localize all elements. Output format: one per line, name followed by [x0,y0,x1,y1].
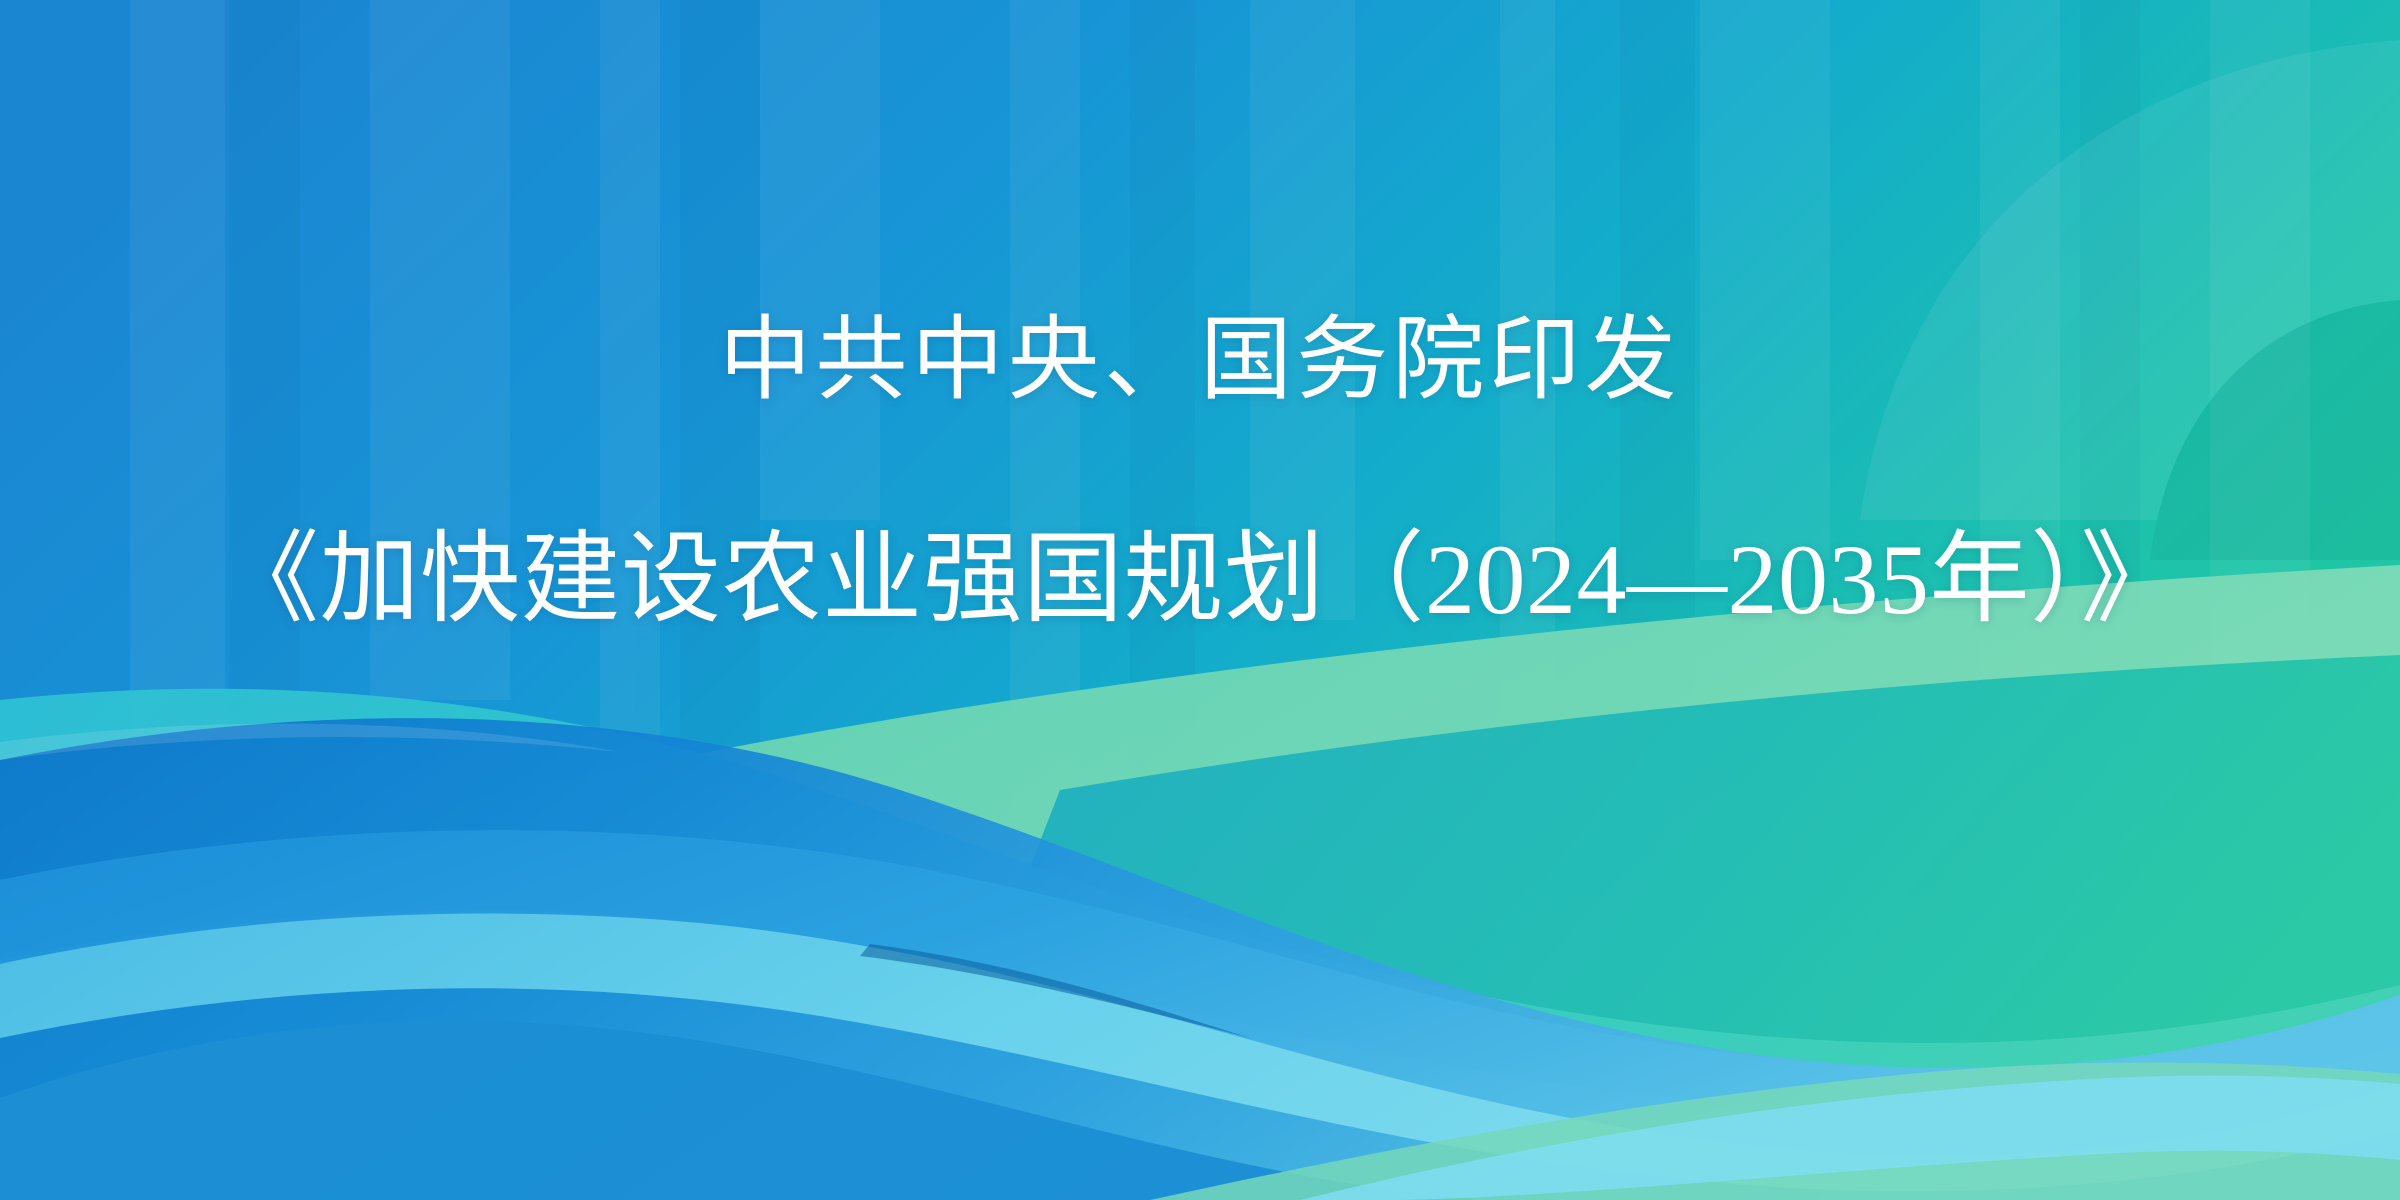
background-artwork [0,0,2400,1200]
banner-poster: 中共中央、国务院印发 《加快建设农业强国规划（2024—2035年）》 [0,0,2400,1200]
